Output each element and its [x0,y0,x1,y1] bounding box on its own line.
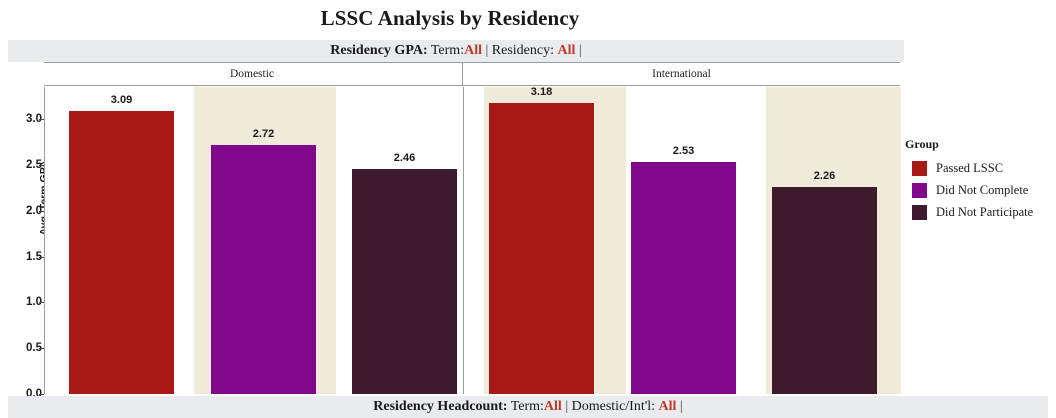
legend-swatch-icon [912,183,927,198]
y-tick-label: 1.0 [8,296,42,308]
bottom-filter-term-value[interactable]: All [544,399,562,414]
bottom-filter-term-label: Term: [511,399,544,414]
y-tick-label: 3.0 [8,113,42,125]
y-tick-mark [39,394,44,395]
legend-swatch-icon [912,161,927,176]
bottom-filter-separator-1: | [565,399,568,414]
bar[interactable] [69,111,174,394]
y-tick-label: 2.5 [8,159,42,171]
legend-item-label: Passed LSSC [936,161,1003,176]
top-filter-residency-value[interactable]: All [558,43,576,58]
panel-divider [463,87,464,394]
legend-title: Group [905,137,1054,152]
legend-item-did-not-participate[interactable]: Did Not Participate [902,201,1054,223]
bar[interactable] [211,145,316,394]
panel-header-strip: Domestic International [44,62,900,86]
plot-area: 3.092.722.463.182.532.26 [44,87,900,394]
top-filter-term-label: Term: [431,43,464,58]
bar-value-label: 2.53 [631,145,736,157]
top-filter-term-value[interactable]: All [464,43,482,58]
legend-swatch-icon [912,205,927,220]
legend-item-label: Did Not Complete [936,183,1028,198]
bar-value-label: 2.46 [352,152,457,164]
top-filter-name: Residency GPA: [330,43,427,58]
bottom-filter-domintl-value[interactable]: All [659,399,677,414]
bar[interactable] [631,162,736,394]
top-filter-residency-label: Residency: [492,43,554,58]
bar-value-label: 3.09 [69,94,174,106]
panel-header-domestic: Domestic [44,63,460,85]
legend-item-passed-lssc[interactable]: Passed LSSC [902,157,1054,179]
top-filter-separator-1: | [485,43,488,58]
y-tick-label: 0.5 [8,342,42,354]
y-tick-label: 1.5 [8,251,42,263]
legend-item-did-not-complete[interactable]: Did Not Complete [902,179,1054,201]
bar[interactable] [772,187,877,394]
bar[interactable] [489,103,594,394]
bottom-filter-domintl-label: Domestic/Int'l: [572,399,655,414]
panel-header-international: International [462,63,900,85]
bar-value-label: 3.18 [489,86,594,98]
bottom-filter-separator-2: | [680,399,683,414]
bottom-filter-name: Residency Headcount: [373,399,507,414]
bar[interactable] [352,169,457,394]
bottom-filter-bar: Residency Headcount: Term:All | Domestic… [8,396,1048,418]
legend: Group Passed LSSC Did Not Complete Did N… [902,137,1054,223]
y-tick-label: 2.0 [8,205,42,217]
bar-value-label: 2.72 [211,128,316,140]
chart-plot-frame: Domestic International Avg. Term GPA 0.0… [0,62,904,394]
top-filter-separator-2: | [579,43,582,58]
page-title: LSSC Analysis by Residency [0,6,900,31]
top-filter-bar: Residency GPA: Term:All | Residency: All… [8,40,904,62]
bar-value-label: 2.26 [772,170,877,182]
legend-item-label: Did Not Participate [936,205,1033,220]
